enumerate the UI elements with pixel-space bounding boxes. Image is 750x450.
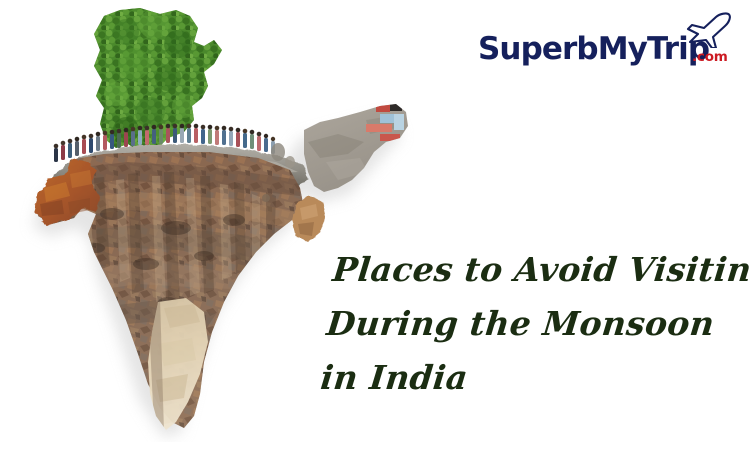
logo-tld: .com: [692, 51, 728, 65]
headline-line-1: Places to Avoid Visiting: [330, 243, 736, 297]
site-logo[interactable]: SuperbMyTrip .com: [478, 14, 744, 72]
headline-line-3: in India: [318, 351, 736, 405]
headline-line-2: During the Monsoon: [324, 297, 736, 351]
airplane-icon: [683, 12, 745, 48]
promo-banner: SuperbMyTrip .com Places to Avoid Visiti…: [0, 0, 750, 450]
logo-wordmark: SuperbMyTrip: [478, 34, 709, 65]
headline-block: Places to Avoid Visiting During the Mons…: [300, 243, 730, 405]
region-northern-forest: [88, 2, 238, 162]
